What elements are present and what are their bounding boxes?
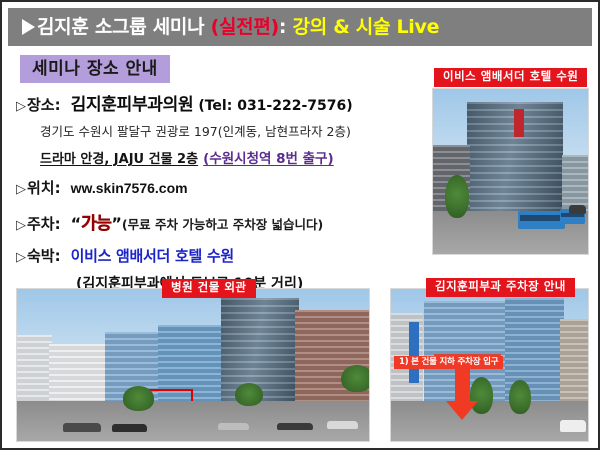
tree <box>235 383 263 406</box>
triangle-right-icon <box>22 19 35 35</box>
caption-hotel: 이비스 앰배서더 호텔 수원 <box>434 68 587 87</box>
slide-title: 김지훈 소그룹 세미나 (실전편): 강의 & 시술 Live <box>37 18 439 37</box>
tree <box>509 380 531 413</box>
parking-status: 가능 <box>81 209 111 234</box>
landmark-text: 드라마 안경, JAJU 건물 2층 <box>40 152 198 167</box>
website-label: 위치: <box>27 177 61 198</box>
bullet-triangle-icon: ▷ <box>16 183 26 196</box>
photo-hotel <box>432 88 589 255</box>
tree <box>341 365 370 392</box>
clinic-address: 경기도 수원시 팔달구 권광로 197(인계동, 남현프라자 2층) <box>40 121 416 140</box>
vertical-sign <box>409 322 419 383</box>
title-subtitle: 강의 & 시술 Live <box>293 16 440 38</box>
parking-arrow-head <box>446 401 478 420</box>
venue-info-block: ▷ 장소: 김지훈피부과의원 (Tel: 031-222-7576) 경기도 수… <box>16 90 416 293</box>
section-badge-label: 세미나 장소 안내 <box>32 59 158 79</box>
bullet-triangle-icon: ▷ <box>16 100 26 113</box>
info-row-lodging: ▷ 숙박: 이비스 앰배서더 호텔 수원 <box>16 245 416 266</box>
place-label: 장소: <box>27 94 61 115</box>
bullet-triangle-icon: ▷ <box>16 251 26 264</box>
lodging-label: 숙박: <box>27 245 61 266</box>
photo-clinic-exterior <box>16 288 370 442</box>
section-badge-venue: 세미나 장소 안내 <box>20 55 170 83</box>
building-brick-right <box>295 310 369 413</box>
quote-open: “ <box>71 214 82 233</box>
photo-parking-guide: 1) 본 건물 지하 주차장 입구 <box>390 288 589 442</box>
title-highlight: (실전편) <box>211 16 279 38</box>
photo-road <box>17 401 369 441</box>
car <box>63 423 102 432</box>
car <box>112 424 147 432</box>
title-colon: : <box>279 16 286 38</box>
caption-exterior: 병원 건물 외관 <box>162 279 256 298</box>
hotel-logo-sign <box>514 109 525 137</box>
parking-note: (무료 주차 가능하고 주차장 넓습니다) <box>122 214 323 233</box>
car <box>277 423 312 431</box>
parked-car <box>569 205 586 215</box>
parking-label: 주차: <box>27 213 61 234</box>
city-bus <box>518 211 565 229</box>
car <box>218 423 250 431</box>
subway-exit-text: (수원시청역 8번 출구) <box>203 151 334 167</box>
bullet-triangle-icon: ▷ <box>16 219 26 232</box>
car <box>560 420 586 432</box>
clinic-landmark-line: 드라마 안경, JAJU 건물 2층 (수원시청역 8번 출구) <box>40 147 416 167</box>
car <box>327 421 359 429</box>
info-row-place: ▷ 장소: 김지훈피부과의원 (Tel: 031-222-7576) <box>16 90 416 115</box>
title-main: 김지훈 소그룹 세미나 <box>37 16 204 38</box>
building-far-right <box>560 319 588 413</box>
tree <box>123 386 155 410</box>
info-row-parking: ▷ 주차: “가능” (무료 주차 가능하고 주차장 넓습니다) <box>16 209 416 234</box>
clinic-name: 김지훈피부과의원 <box>71 90 194 115</box>
clinic-telephone: (Tel: 031-222-7576) <box>198 98 352 114</box>
info-row-website: ▷ 위치: ww.skin7576.com <box>16 177 416 198</box>
caption-parking: 김지훈피부과 주차장 안내 <box>426 278 575 297</box>
website-url[interactable]: ww.skin7576.com <box>71 180 188 196</box>
slide: 김지훈 소그룹 세미나 (실전편): 강의 & 시술 Live 세미나 장소 안… <box>0 0 600 450</box>
slide-header: 김지훈 소그룹 세미나 (실전편): 강의 & 시술 Live <box>8 8 592 46</box>
parking-entrance-annotation: 1) 본 건물 지하 주차장 입구 <box>394 356 503 369</box>
hotel-name: 이비스 앰배서더 호텔 수원 <box>71 245 234 266</box>
quote-close: ” <box>111 214 122 233</box>
tree <box>445 175 468 218</box>
